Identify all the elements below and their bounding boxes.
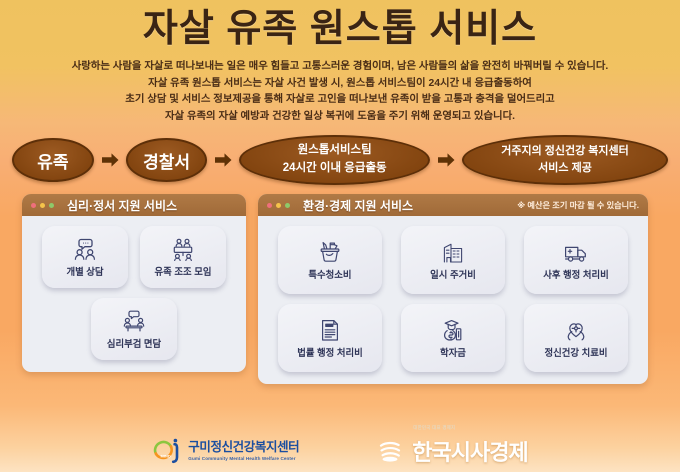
service-card-label: 법률 행정 처리비: [297, 345, 363, 359]
panel-body-right: 특수청소비 일시 주거비: [258, 216, 648, 384]
arrow-right-icon: [435, 149, 457, 171]
poster-canvas: 자살 유족 원스톱 서비스 사랑하는 사람을 자살로 떠나보내는 일은 매우 힘…: [0, 0, 680, 472]
flow-step-center-line-1: 거주지의 정신건강 복지센터: [501, 143, 629, 160]
heart-hands-icon: [563, 318, 589, 342]
panel-title-right: 환경·경제 지원 서비스: [303, 197, 413, 214]
arrow-right-icon: [212, 149, 234, 171]
flow-step-onestop-line-1: 원스톱서비스팀: [298, 142, 372, 160]
service-card-special-cleaning[interactable]: 특수청소비: [278, 226, 382, 294]
service-card-label: 개별 상담: [66, 264, 103, 278]
ambulance-icon: [563, 240, 589, 264]
service-card-label: 학자금: [440, 345, 466, 359]
arrow-right-icon: [99, 149, 121, 171]
window-dots-right: [267, 203, 290, 208]
card-row: 법률 행정 처리비: [266, 304, 640, 372]
description-block: 사랑하는 사람을 자살로 떠나보내는 일은 매우 힘들고 고통스러운 경험이며,…: [0, 59, 680, 126]
description-line-2: 자살 유족 원스톱 서비스는 자살 사건 발생 시, 원스톱 서비스팀이 24시…: [26, 76, 654, 93]
scholarship-icon: [440, 318, 466, 342]
gumi-center-name-ko: 구미정신건강복지센터: [188, 441, 299, 455]
flow-step-onestop-team: 원스톱서비스팀 24시간 이내 응급출동: [239, 135, 430, 185]
panel-header-left: 심리·정서 지원 서비스: [22, 194, 246, 216]
window-dots-left: [31, 203, 54, 208]
housing-icon: [440, 240, 466, 264]
budget-notice: ※ 예산은 조기 마감 될 수 있습니다.: [517, 199, 639, 211]
gumi-center-logo-icon: MIND: [152, 438, 182, 464]
card-row: 개별 상담: [30, 226, 238, 288]
service-card-label: 사후 행정 처리비: [543, 267, 609, 281]
flow-step-bereaved-line-1: 유족: [37, 148, 68, 173]
service-card-legal-admin-fee[interactable]: 법률 행정 처리비: [278, 304, 382, 372]
description-line-3: 초기 상담 및 서비스 정보제공을 통해 자살로 고인을 떠나보낸 유족이 받을…: [26, 92, 654, 109]
press-name: 한국시사경제: [412, 435, 527, 467]
dot-green-icon: [49, 203, 54, 208]
panel-psychological-emotional: 심리·정서 지원 서비스: [22, 194, 246, 372]
press-logo: 대한민국 대표 경제지 한국시사경제: [379, 435, 527, 467]
service-card-label: 심리부검 면담: [107, 336, 161, 350]
dot-green-icon: [285, 203, 290, 208]
description-line-1: 사랑하는 사람을 자살로 떠나보내는 일은 매우 힘들고 고통스러운 경험이며,…: [26, 59, 654, 76]
service-card-counseling[interactable]: 개별 상담: [42, 226, 128, 288]
service-card-scholarship[interactable]: 학자금: [401, 304, 505, 372]
flow-step-mental-health-center: 거주지의 정신건강 복지센터 서비스 제공: [462, 135, 668, 185]
service-panels: 심리·정서 지원 서비스: [0, 194, 680, 384]
support-group-icon: [170, 237, 196, 261]
panel-environmental-economic: 환경·경제 지원 서비스 ※ 예산은 조기 마감 될 수 있습니다.: [258, 194, 648, 384]
cleaning-icon: [317, 240, 343, 264]
law-document-icon: [317, 318, 343, 342]
process-flow-diagram: 유족 경찰서 원스톱서비스팀 24시간 이내 응급출동 거주지의 정신건강 복지…: [0, 135, 680, 185]
flow-step-onestop-line-2: 24시간 이내 응급출동: [283, 160, 387, 178]
service-card-temporary-housing[interactable]: 일시 주거비: [401, 226, 505, 294]
service-card-post-admin-fee[interactable]: 사후 행정 처리비: [524, 226, 628, 294]
panel-title-left: 심리·정서 지원 서비스: [67, 197, 177, 214]
page-title: 자살 유족 원스톱 서비스: [0, 8, 680, 52]
service-card-label: 정신건강 치료비: [545, 345, 608, 359]
press-kicker: 대한민국 대표 경제지: [413, 425, 455, 431]
flow-step-police-line-1: 경찰서: [143, 148, 190, 173]
flow-step-bereaved: 유족: [12, 138, 94, 182]
flow-step-police: 경찰서: [126, 138, 208, 182]
service-card-mental-health-treatment[interactable]: 정신건강 치료비: [524, 304, 628, 372]
dot-yellow-icon: [40, 203, 45, 208]
card-row: 특수청소비 일시 주거비: [266, 226, 640, 294]
gumi-center-name-en: Gumi Community Mental Health Welfare Cen…: [188, 456, 299, 461]
dot-red-icon: [31, 203, 36, 208]
panel-header-right: 환경·경제 지원 서비스 ※ 예산은 조기 마감 될 수 있습니다.: [258, 194, 648, 216]
svg-text:MIND: MIND: [161, 454, 171, 459]
service-card-label: 특수청소비: [308, 267, 351, 281]
dot-yellow-icon: [276, 203, 281, 208]
description-line-4: 자살 유족의 자살 예방과 건강한 일상 복귀에 도움을 주기 위해 운영되고 …: [26, 109, 654, 126]
service-card-label: 유족 조조 모임: [155, 264, 212, 278]
flow-step-center-line-2: 서비스 제공: [538, 160, 592, 177]
dot-red-icon: [267, 203, 272, 208]
press-wave-icon: [379, 439, 407, 463]
poster-header: 자살 유족 원스톱 서비스 사랑하는 사람을 자살로 떠나보내는 일은 매우 힘…: [0, 0, 680, 126]
service-card-support-group[interactable]: 유족 조조 모임: [140, 226, 226, 288]
poster-footer: MIND 구미정신건강복지센터 Gumi Community Mental He…: [0, 430, 680, 472]
gumi-center-text: 구미정신건강복지센터 Gumi Community Mental Health …: [188, 441, 299, 461]
gumi-center-logo: MIND 구미정신건강복지센터 Gumi Community Mental He…: [152, 438, 299, 464]
service-card-psychological-autopsy[interactable]: 심리부검 면담: [91, 298, 177, 360]
psychological-autopsy-icon: [121, 309, 147, 333]
counseling-icon: [72, 237, 98, 261]
card-row: 심리부검 면담: [30, 298, 238, 360]
panel-body-left: 개별 상담: [22, 216, 246, 372]
service-card-label: 일시 주거비: [430, 267, 476, 281]
